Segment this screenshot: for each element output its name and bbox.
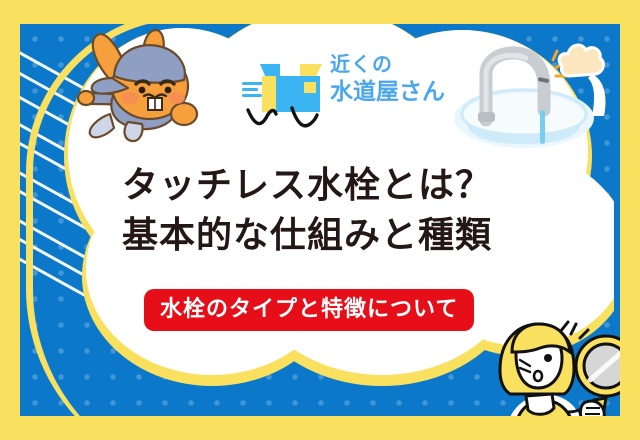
brand-line-2: 水道屋さん: [330, 78, 460, 104]
frame-right: [622, 0, 640, 440]
running-box-icon: [260, 60, 322, 112]
page-title: タッチレス水栓とは？ 基本的な仕組みと種類: [122, 160, 562, 260]
rabbit-plumber-mascot: [62, 22, 212, 147]
frame-left: [0, 0, 18, 440]
banner-image: 近くの 水道屋さん タッチレス水栓とは？ 基本的な仕組みと種類: [0, 0, 640, 440]
subtitle-badge: 水栓のタイプと特徴について: [146, 291, 472, 329]
brand-line-1: 近くの: [330, 54, 460, 76]
touchless-faucet-illustration: [452, 34, 612, 152]
frame-bottom: [0, 418, 640, 440]
brand-name: 近くの 水道屋さん: [330, 54, 460, 104]
headline-line-1: タッチレス水栓とは？: [122, 160, 562, 210]
box-label: [304, 82, 316, 93]
brand-logo: 近くの 水道屋さん: [238, 52, 453, 140]
box-legs-icon: [244, 106, 322, 136]
box-speed-lines: [242, 82, 264, 98]
headline-line-2: 基本的な仕組みと種類: [122, 210, 562, 260]
frame-top: [0, 0, 640, 22]
